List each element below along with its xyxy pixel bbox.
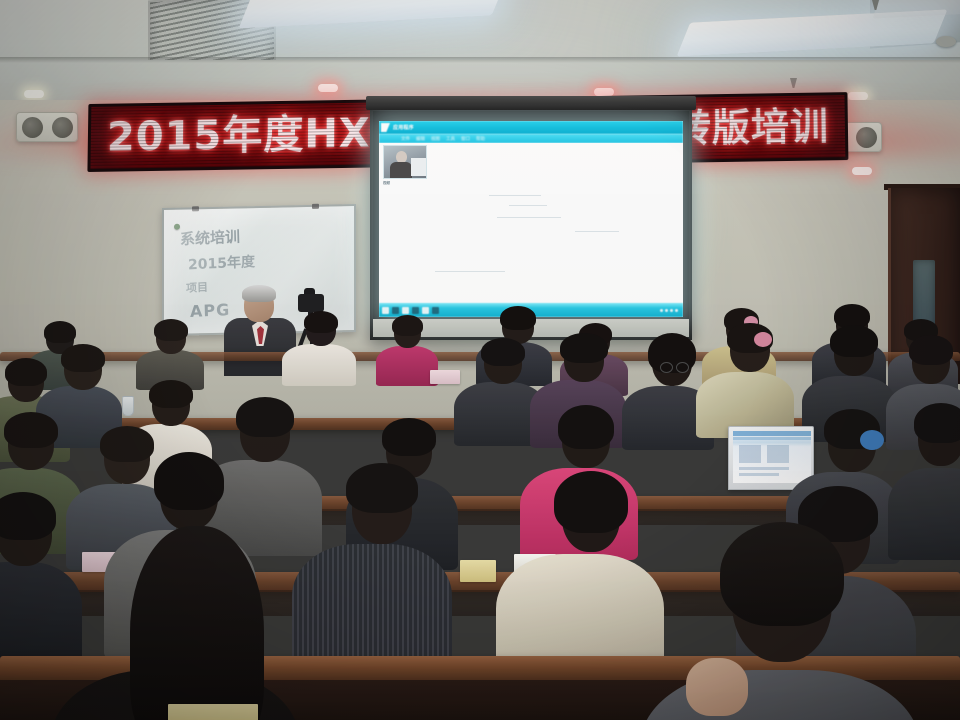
thumbnail-panel (411, 158, 426, 176)
person-hair (554, 471, 628, 533)
document-line (575, 231, 619, 232)
person-hair (382, 418, 436, 456)
whiteboard-text-line-3: 项目 (186, 279, 208, 296)
water-cup (122, 396, 134, 416)
audience-seating (0, 300, 960, 720)
person-hair (500, 306, 536, 330)
smoke-detector-icon (936, 36, 956, 47)
projected-application: 应用程序 文件 编辑 视图 工具 窗口 帮助 视频 (379, 121, 683, 317)
eyeglasses-icon (660, 362, 673, 373)
projector-screen-housing (366, 96, 696, 110)
person-hair (909, 335, 953, 365)
laptop-app-toolbar (733, 437, 811, 440)
person-hair (830, 325, 878, 357)
document-line (497, 217, 561, 218)
led-banner-text-right: 转版培训 (673, 107, 829, 147)
whiteboard-clip (312, 204, 319, 209)
speaker-cone-icon (856, 127, 877, 148)
person-hair (392, 315, 423, 336)
handout-paper (460, 560, 496, 582)
person-hair (154, 452, 224, 510)
app-menubar: 文件 编辑 视图 工具 窗口 帮助 (379, 134, 683, 143)
laptop-grid-cell (739, 467, 789, 470)
photo-scene: 2015年度HXQC 转版培训 系统培训 2015年度 项目 APG 应用程序 … (0, 0, 960, 720)
menu-item-window[interactable]: 窗口 (461, 136, 470, 142)
person-hair (236, 397, 294, 437)
person-hair-long (130, 526, 264, 720)
person-shoulders (888, 468, 960, 560)
person-hair (346, 463, 418, 513)
document-line (509, 205, 547, 206)
person-hair (4, 412, 58, 448)
laptop-grid-cell (739, 445, 761, 463)
person-shoulders (376, 346, 438, 386)
handout-paper (430, 370, 460, 384)
person-hair (914, 403, 960, 443)
menu-item-edit[interactable]: 编辑 (416, 136, 425, 142)
soffit-shadow (0, 57, 960, 63)
person-hair (720, 522, 844, 626)
person-hair (0, 492, 56, 540)
person-hair (560, 333, 608, 363)
speaker-cone-icon (52, 117, 73, 138)
whiteboard-text-line-2: 2015年度 (188, 251, 255, 274)
menu-item-view[interactable]: 视图 (431, 136, 440, 142)
eyeglasses-icon (676, 362, 689, 373)
video-thumbnail[interactable] (383, 145, 427, 179)
hair-scrunchie (860, 430, 884, 450)
person-hair (154, 319, 188, 341)
recessed-downlight (318, 84, 338, 92)
menu-item-tools[interactable]: 工具 (446, 136, 455, 142)
person-shoulders (282, 344, 356, 386)
video-thumbnail-label: 视频 (383, 181, 390, 186)
person-hair (304, 311, 338, 333)
laptop-grid-cell (739, 473, 779, 476)
app-title: 应用程序 (393, 124, 414, 131)
person-hair (61, 344, 105, 372)
laptop-grid-cell (767, 445, 789, 463)
hair-scrunchie (754, 332, 772, 347)
person-hand (686, 658, 748, 716)
app-content-area: 视频 (379, 143, 683, 303)
person-hair (100, 426, 154, 462)
document-line (435, 271, 505, 272)
laptop-screen (733, 431, 811, 483)
wall-speaker-left (16, 112, 78, 142)
app-titlebar: 应用程序 (379, 121, 683, 134)
person-hair (5, 358, 47, 386)
menu-item-file[interactable]: 文件 (401, 136, 410, 142)
speaker-cone-icon (22, 117, 43, 138)
laptop-app-titlebar (733, 431, 811, 436)
person-shoulders (292, 544, 452, 674)
whiteboard-clip (192, 206, 199, 211)
person-hair (558, 405, 614, 449)
ceiling-tube-light (239, 0, 506, 28)
person-hair (44, 321, 76, 343)
whiteboard-text-line-1: 系统培训 (180, 226, 241, 250)
person-hair (149, 380, 193, 408)
recessed-downlight (852, 167, 872, 175)
thumbnail-person-body (390, 162, 412, 178)
document-line (489, 195, 541, 196)
handout-paper (168, 704, 258, 720)
person-hair (481, 338, 525, 366)
recessed-downlight (594, 88, 614, 96)
app-logo-icon (381, 123, 390, 132)
menu-item-help[interactable]: 帮助 (476, 136, 485, 142)
